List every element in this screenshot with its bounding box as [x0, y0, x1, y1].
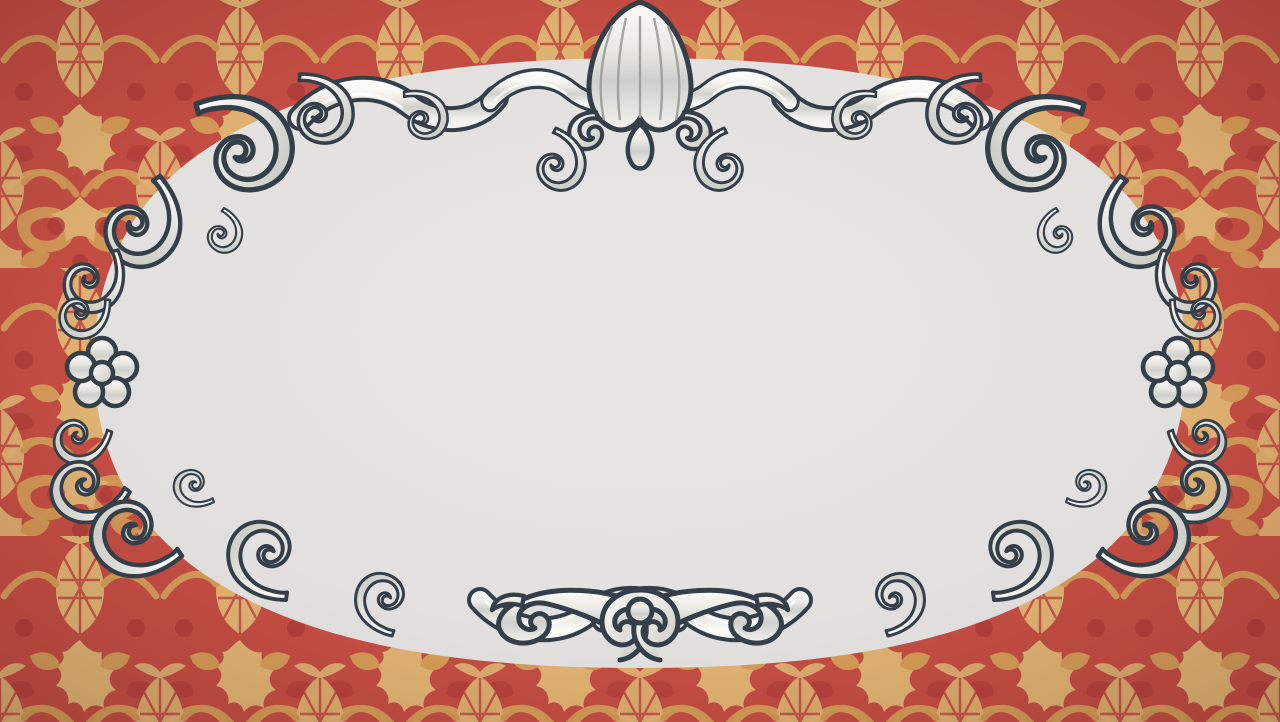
- ornamental-cartouche-frame: [0, 0, 1280, 722]
- top-center-shell-ornament: [569, 2, 710, 169]
- title-card-stage: クソ王子をブッ飛ばしてもよろしいでしょうか BS11: [0, 0, 1280, 722]
